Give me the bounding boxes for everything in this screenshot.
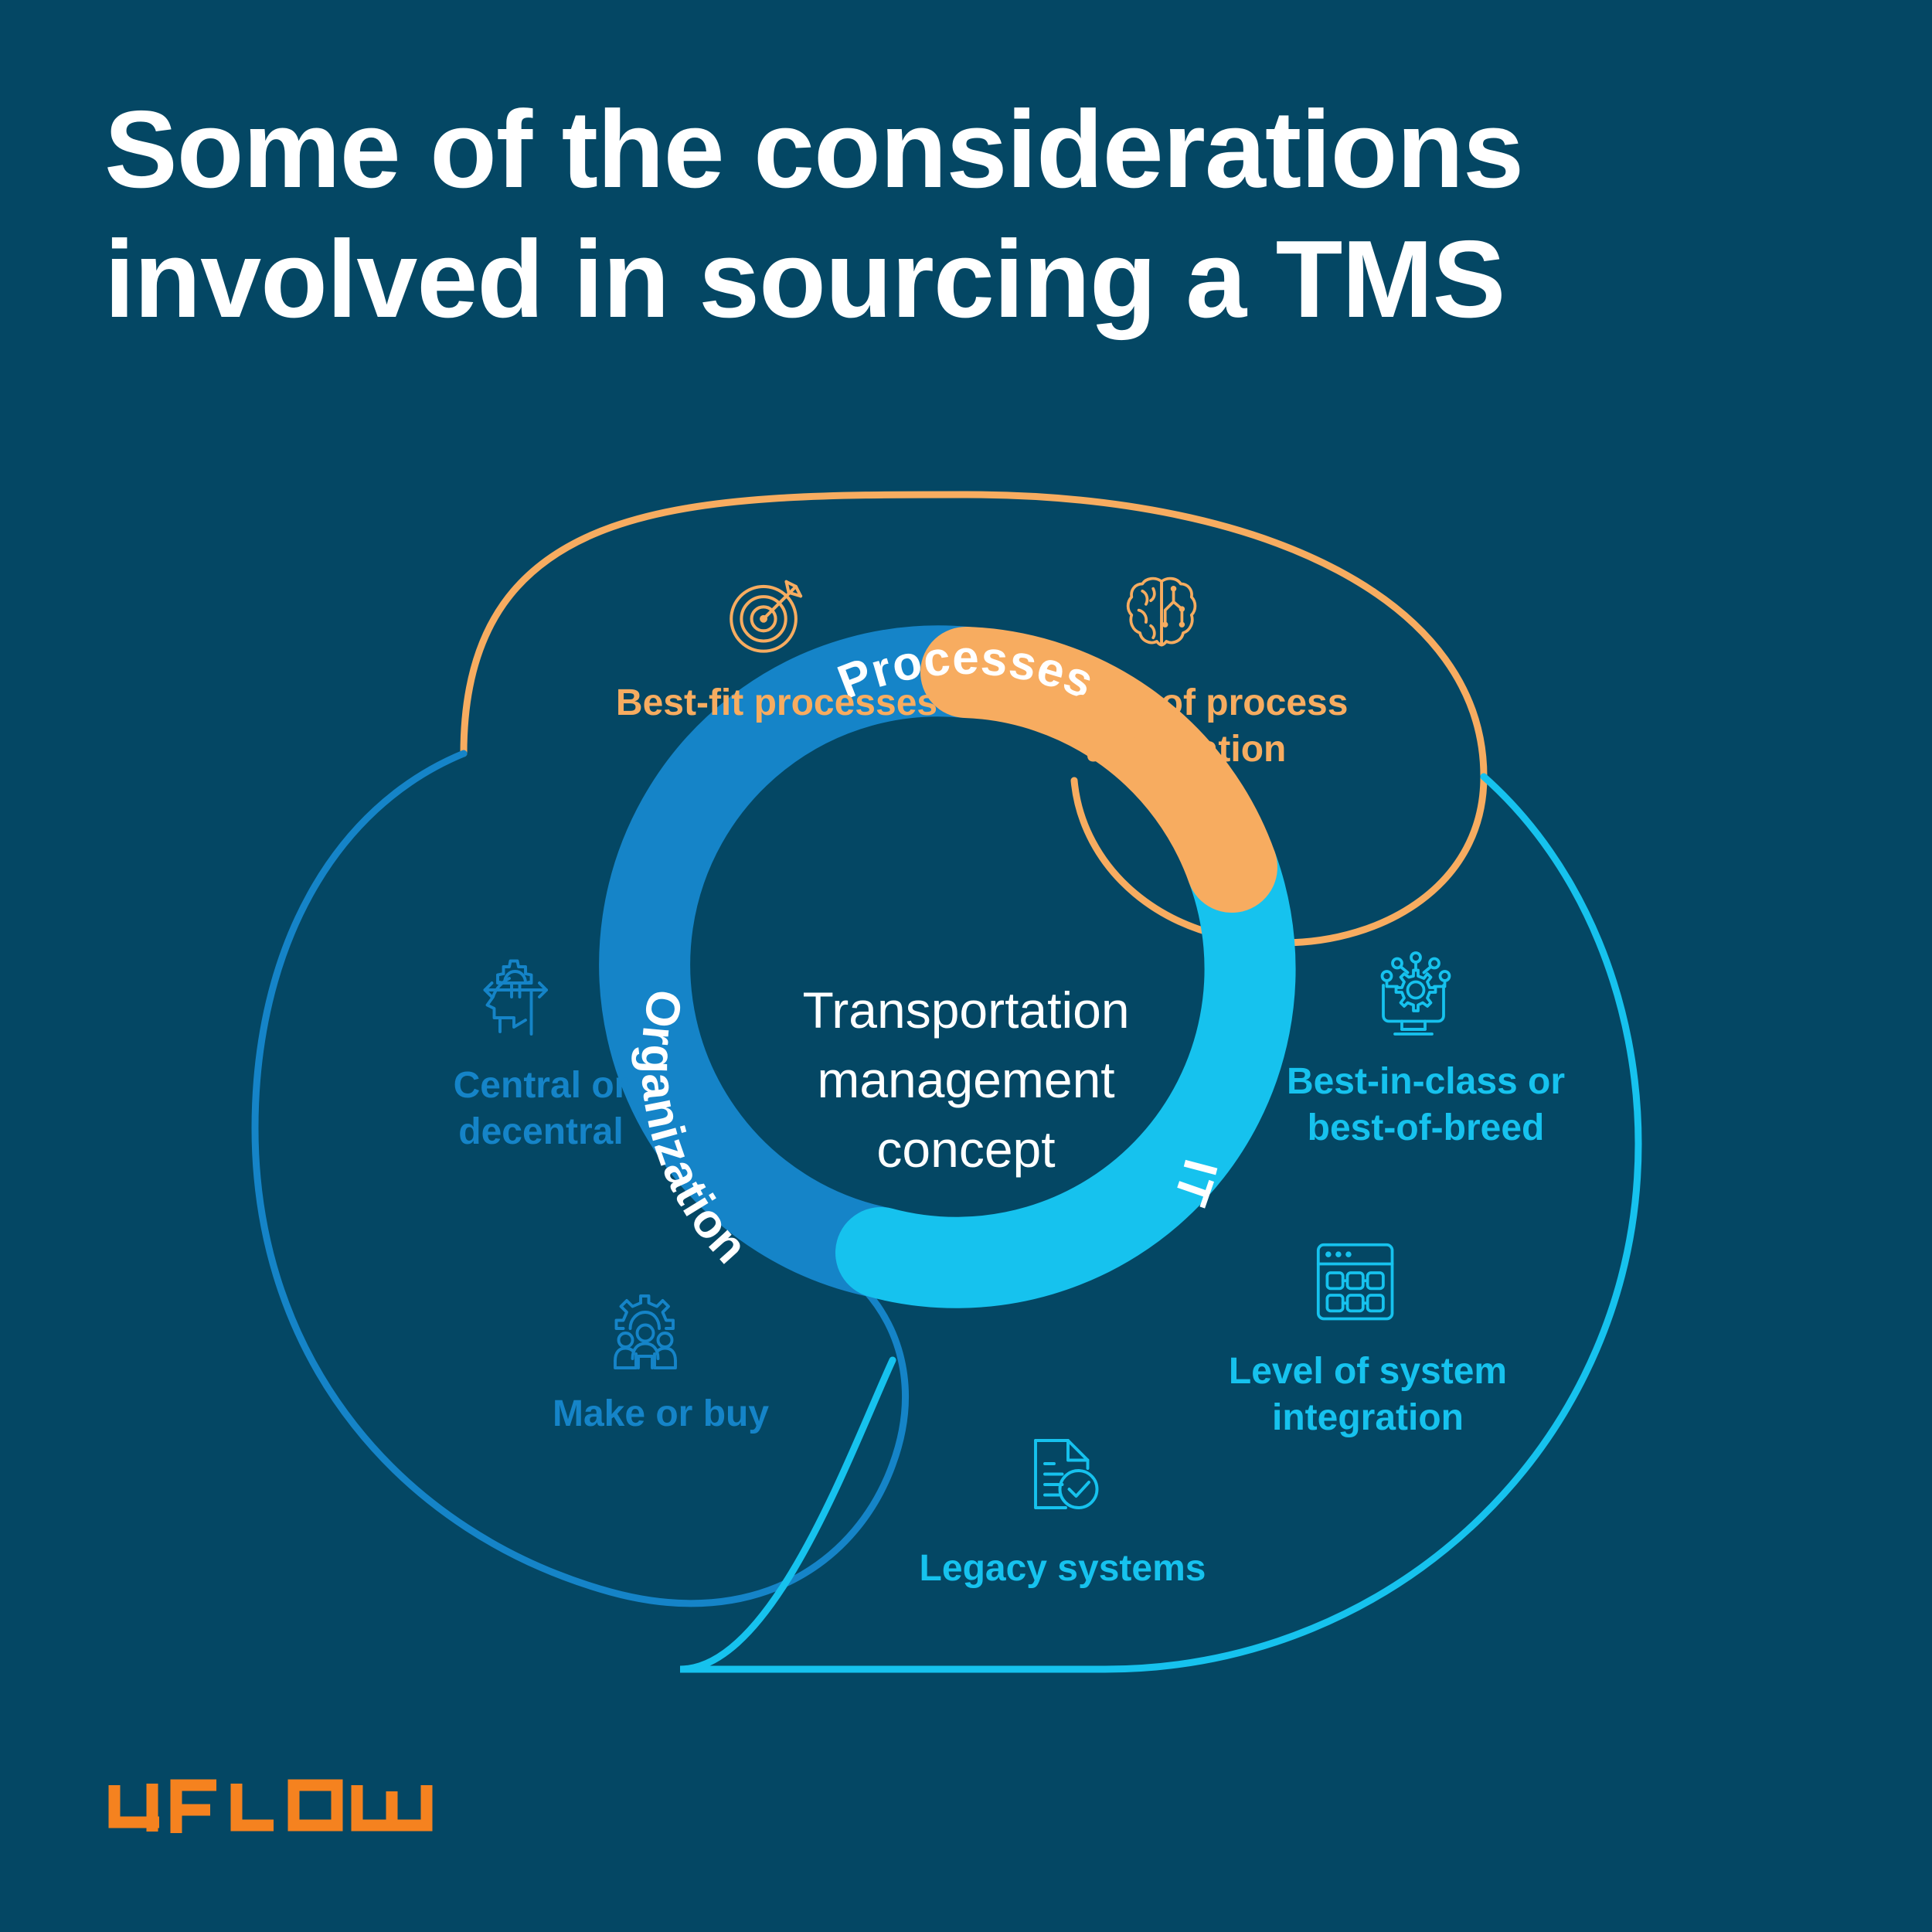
consideration-label-line-1: Degree of process — [1025, 682, 1349, 723]
consideration-label-line-2: integration — [1272, 1397, 1464, 1438]
4flow-logo — [108, 1777, 433, 1870]
consideration-label: Best-fit processes — [616, 682, 937, 723]
tms-considerations-diagram: Processes Organization IT Transportation… — [0, 0, 1932, 1932]
people-gear-icon — [615, 1296, 675, 1368]
target-arrow-icon — [731, 582, 801, 651]
center-line-3: concept — [876, 1121, 1055, 1178]
consideration-make-or-buy[interactable]: Make or buy — [553, 1296, 769, 1434]
consideration-level-of-system-integration[interactable]: Level of system integration — [1229, 1245, 1507, 1438]
head-gear-arrows-icon — [485, 961, 547, 1035]
consideration-best-in-class-or-best-of-breed[interactable]: Best-in-class or best-of-breed — [1287, 953, 1565, 1148]
infographic-page: Some of the considerations involved in s… — [0, 0, 1932, 1932]
window-modules-icon — [1318, 1245, 1393, 1319]
consideration-label: Legacy systems — [920, 1548, 1206, 1589]
center-line-1: Transportation — [802, 981, 1129, 1039]
consideration-label-line-2: best-of-breed — [1308, 1107, 1545, 1148]
center-concept-label: Transportation management concept — [802, 981, 1129, 1178]
document-check-icon — [1036, 1440, 1097, 1508]
consideration-label-line-2: decentral — [458, 1111, 623, 1152]
consideration-label: Make or buy — [553, 1393, 769, 1434]
center-line-2: management — [817, 1051, 1114, 1108]
consideration-label-line-1: Best-in-class or — [1287, 1061, 1565, 1102]
consideration-label-line-1: Level of system — [1229, 1351, 1507, 1392]
monitor-gear-network-icon — [1383, 953, 1450, 1034]
consideration-label-line-2: automation — [1087, 729, 1287, 770]
brain-circuit-icon — [1128, 579, 1196, 645]
consideration-label-line-1: Central or — [454, 1065, 629, 1106]
consideration-legacy-systems[interactable]: Legacy systems — [920, 1440, 1206, 1589]
